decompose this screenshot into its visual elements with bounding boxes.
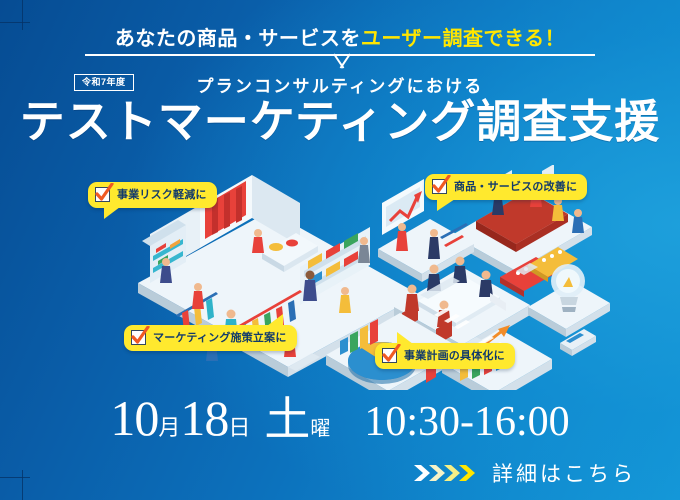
page-title: テストマーケティング調査支援 [0,98,680,145]
tagline: あなたの商品・サービスをユーザー調査できる！ [0,22,680,51]
callout-planning: 事業計画の具体化に [375,343,515,369]
callout-improve: 商品・サービスの改善に [425,174,587,200]
event-day-unit: 日 [228,417,250,439]
tagline-divider [85,54,595,70]
event-time-range: 10:30-16:00 [330,401,569,443]
callout-label: 事業リスク軽減に [117,190,207,201]
tagline-highlight-text: ユーザー調査できる！ [361,28,565,50]
event-datetime: 10 月 18 日 土 曜 10:30-16:00 [0,393,680,455]
event-day: 18 [180,393,228,443]
promo-banner: あなたの商品・サービスをユーザー調査できる！ 令和7年度 プランコンサルティング… [0,0,680,500]
double-chevron-right-icon [414,463,478,483]
details-cta[interactable]: 詳細はこちら [414,458,636,488]
subtitle: プランコンサルティングにおける [0,72,680,97]
event-month-unit: 月 [158,417,180,439]
callout-marketing: マーケティング施策立案に [124,325,297,351]
checkbox-checked-icon [432,179,448,195]
divider-notch [329,54,353,69]
callout-risk: 事業リスク軽減に [88,182,217,208]
tagline-plain-text: あなたの商品・サービスを [115,28,361,50]
callout-tail [267,314,283,326]
callout-tail [397,332,413,344]
callout-tail [437,199,455,211]
crop-mark-bottom-left [0,470,30,500]
checkbox-checked-icon [95,187,111,203]
checkbox-checked-icon [382,348,398,364]
callout-label: 商品・サービスの改善に [454,182,577,193]
event-weekday: 土 [250,397,310,443]
cta-label: 詳細はこちら [492,458,636,488]
callout-label: マーケティング施策立案に [153,333,287,344]
event-month: 10 [110,393,158,443]
event-weekday-unit: 曜 [310,419,330,439]
callout-label: 事業計画の具体化に [404,351,505,362]
checkbox-checked-icon [131,330,147,346]
callout-tail [104,207,120,219]
